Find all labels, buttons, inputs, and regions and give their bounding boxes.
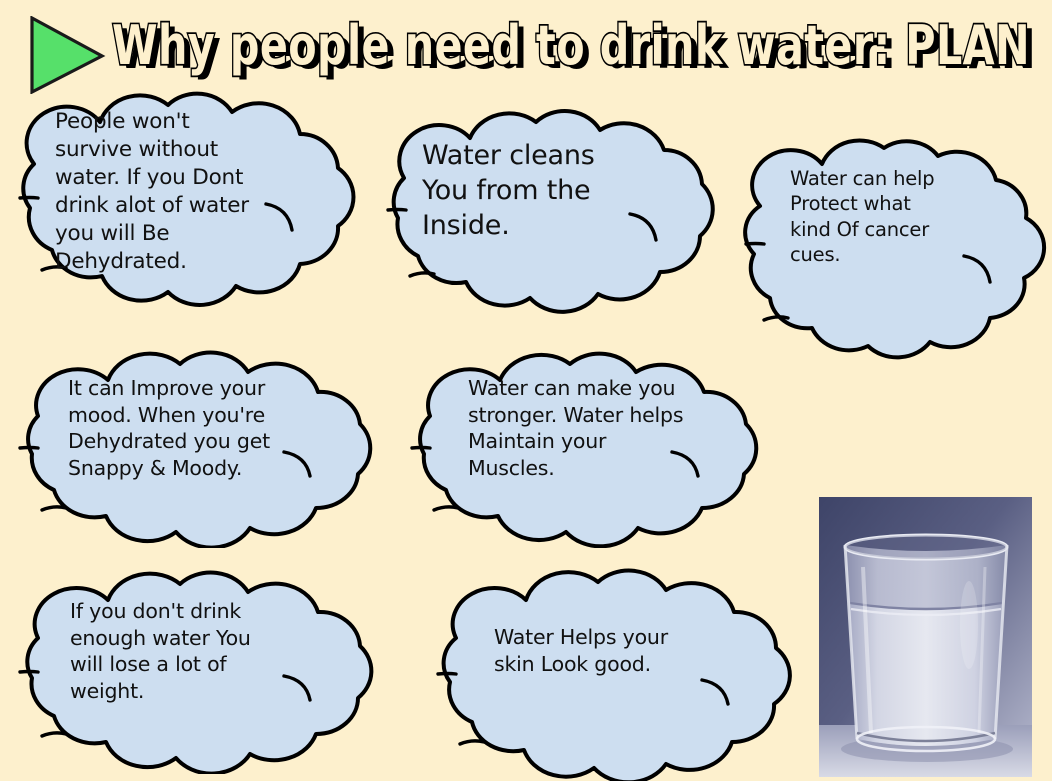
slide-header: Why people need to drink water: PLAN Why… xyxy=(0,0,1052,92)
thought-cloud: Water can make you stronger. Water helps… xyxy=(402,348,774,548)
thought-cloud: Water can help Protect what kind Of canc… xyxy=(738,128,1050,366)
thought-cloud: Water cleans You from the Inside. xyxy=(378,104,730,316)
slide-canvas: Why people need to drink water: PLAN Why… xyxy=(0,0,1052,781)
cloud-text: Water cleans You from the Inside. xyxy=(422,138,694,243)
cloud-text: If you don't drink enough water You will… xyxy=(70,598,336,705)
page-title: Why people need to drink water: PLAN Why… xyxy=(108,12,1038,84)
thought-cloud: Water Helps your skin Look good. xyxy=(428,562,806,781)
thought-cloud: If you don't drink enough water You will… xyxy=(8,566,390,774)
cloud-text: Water can help Protect what kind Of canc… xyxy=(790,166,1006,267)
page-title-text: Why people need to drink water: PLAN xyxy=(112,14,1030,77)
play-triangle-icon xyxy=(28,16,106,94)
glass-of-water-photo xyxy=(819,497,1032,777)
cloud-text: Water Helps your skin Look good. xyxy=(494,624,746,677)
cloud-text: It can Improve your mood. When you're De… xyxy=(68,375,348,482)
thought-cloud: It can Improve your mood. When you're De… xyxy=(8,348,390,548)
cloud-text: People won't survive without water. If y… xyxy=(55,108,323,276)
thought-cloud: People won't survive without water. If y… xyxy=(8,86,368,311)
cloud-text: Water can make you stronger. Water helps… xyxy=(468,375,748,482)
